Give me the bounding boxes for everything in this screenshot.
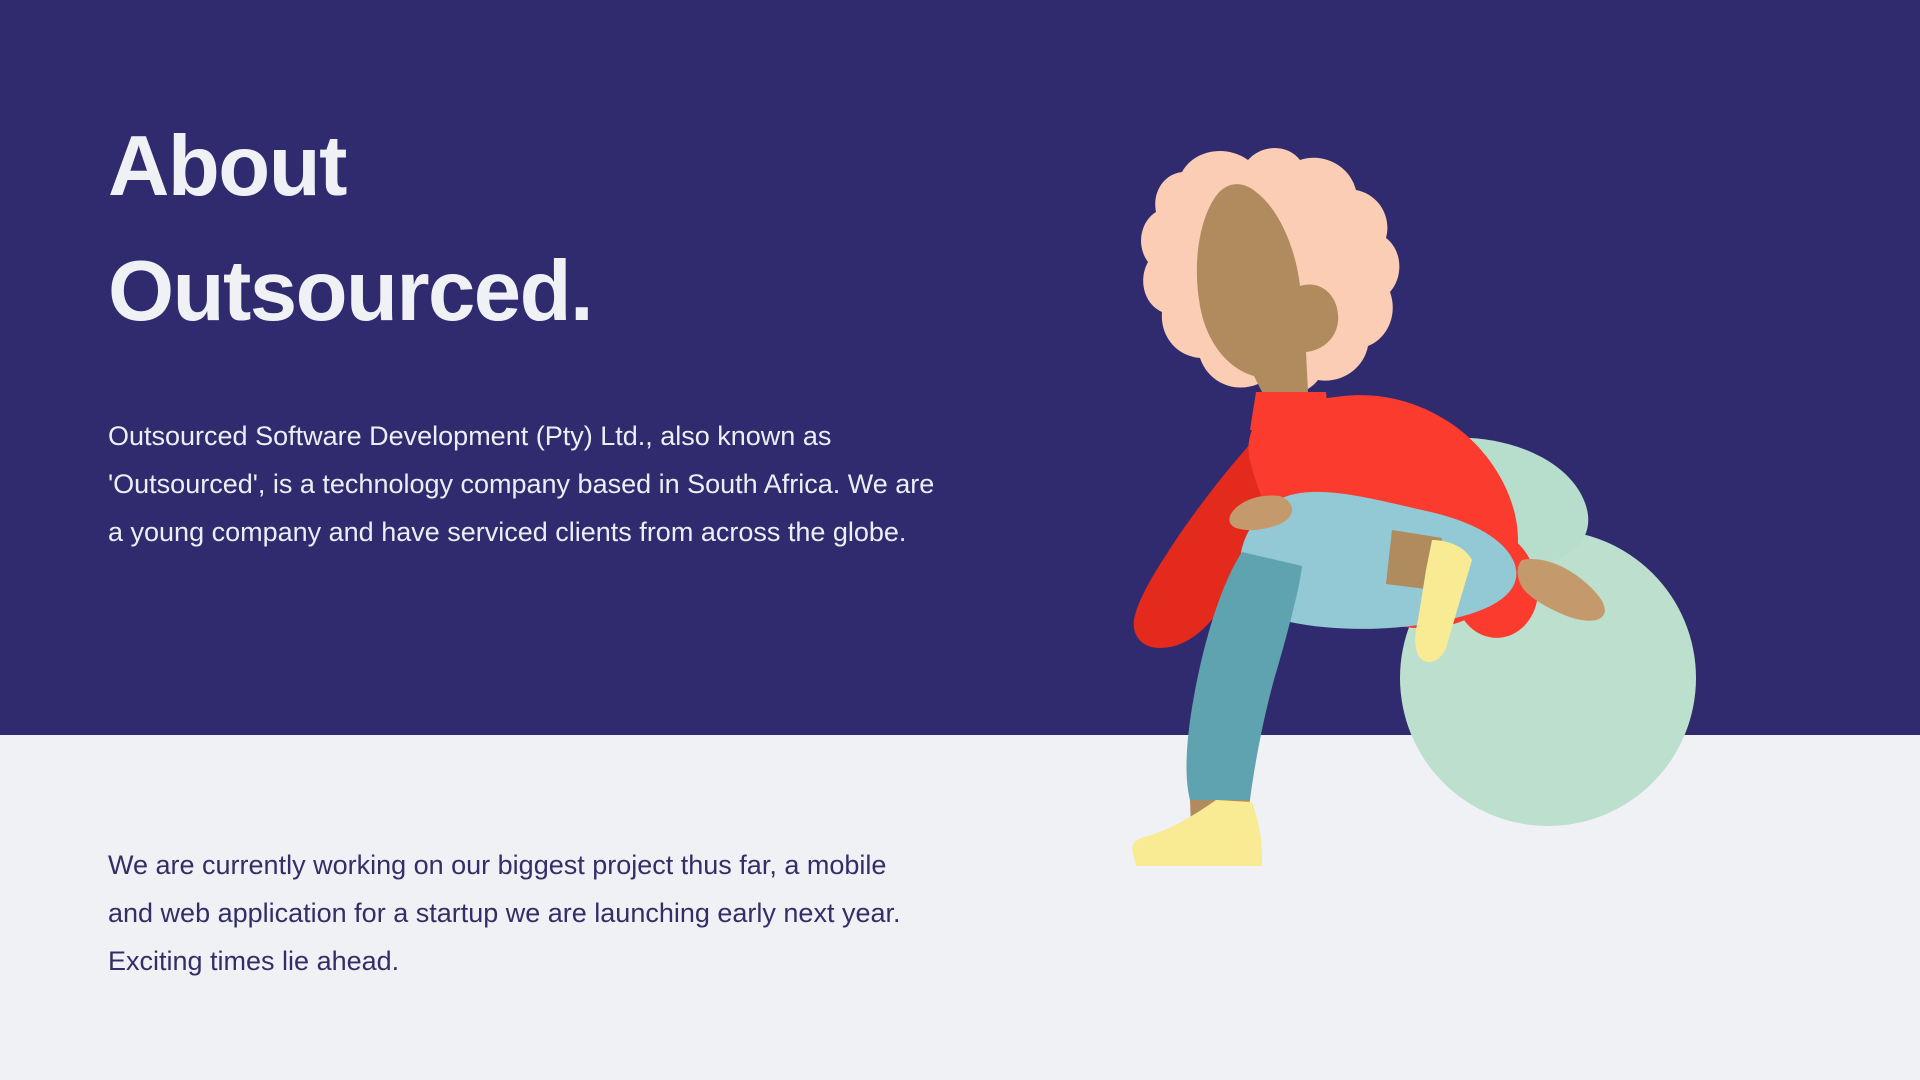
lower-copy-block: We are currently working on our biggest …	[108, 841, 938, 985]
about-page: About Outsourced. Outsourced Software De…	[0, 0, 1920, 1080]
hero-copy-block: About Outsourced. Outsourced Software De…	[108, 104, 948, 556]
page-title: About Outsourced.	[108, 104, 948, 354]
person-sitting-on-exercise-ball-illustration	[1130, 100, 1770, 840]
current-project-paragraph: We are currently working on our biggest …	[108, 841, 938, 985]
hero-description-paragraph: Outsourced Software Development (Pty) Lt…	[108, 412, 938, 556]
